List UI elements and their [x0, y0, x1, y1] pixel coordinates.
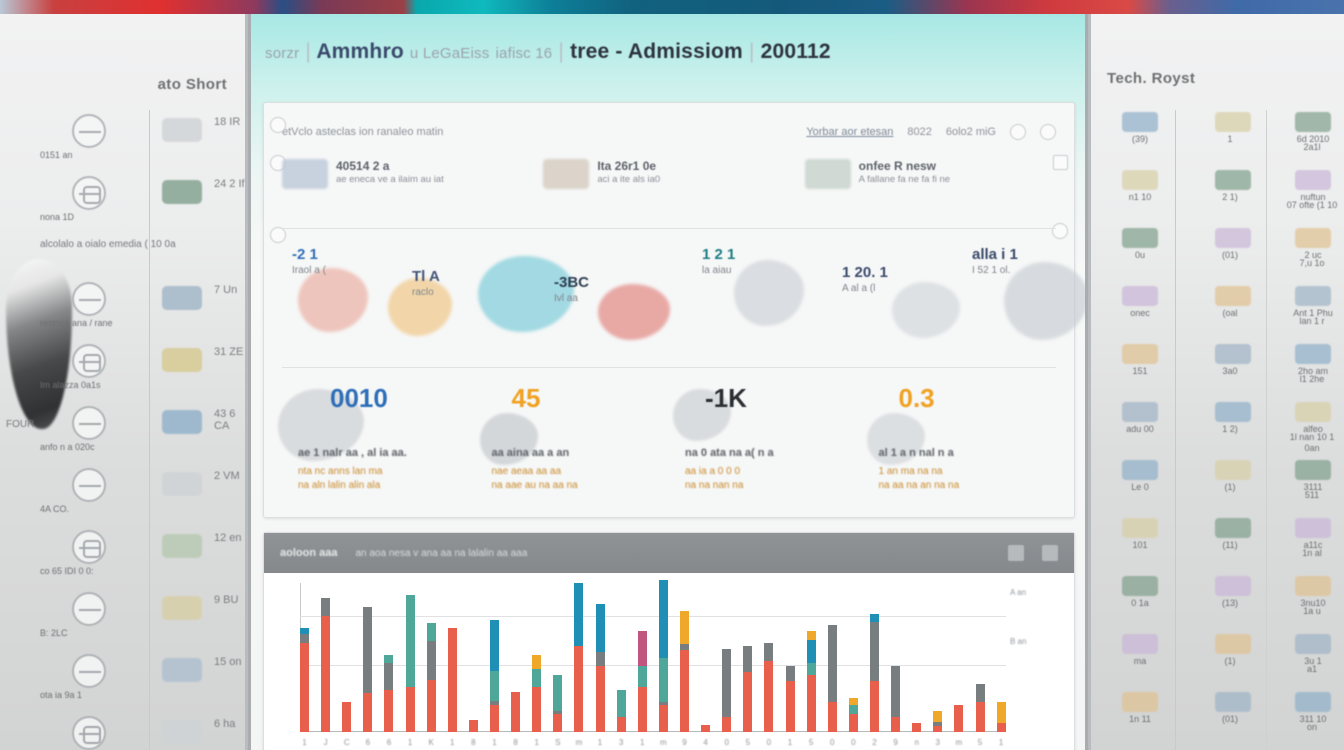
page-title-main: Ammhro	[316, 40, 404, 63]
left-sidebar-item-label: restoca ana / rane	[40, 318, 118, 329]
stat-card-subtitle-2: na na nan na	[685, 479, 860, 493]
chart-x-label: 9	[891, 738, 900, 747]
right-sidebar-cell[interactable]: 0u	[1103, 228, 1177, 261]
bag-icon[interactable]	[72, 344, 106, 378]
chart-x-label: 2	[870, 738, 879, 747]
chart-bar[interactable]	[933, 711, 942, 732]
page-title-frag: iafisc 16	[496, 45, 553, 62]
card-toolbar: etVclo asteclas ion ranaleo matin Yorbar…	[282, 115, 1056, 149]
chart-plot-area: 1JC661K18181Sm131m94050150029n3m51 A anB…	[274, 577, 1064, 750]
right-sidebar-badge-icon	[1295, 692, 1331, 712]
page-title: sorzr | Ammhro u LeGaEiss iafisc 16 | tr…	[265, 40, 1074, 64]
chart-bar-segment	[574, 646, 583, 732]
left-sidebar-badge[interactable]	[162, 410, 202, 434]
chart-x-label: 6	[363, 738, 372, 747]
right-sidebar-cell[interactable]: 2ho am	[1281, 344, 1344, 377]
page-title-mid: u LeGaEiss	[410, 45, 490, 62]
chart-bar-segment	[384, 663, 393, 690]
menu-icon[interactable]	[1042, 545, 1058, 561]
stat-card[interactable]: -1Kna 0 ata na a( n aaa ia a 0 0 0na na …	[669, 379, 863, 505]
chart-bar-segment	[532, 669, 541, 687]
stat-card-subtitle-2: na aae au na aa na	[492, 479, 667, 493]
chart-bar[interactable]	[617, 690, 626, 732]
right-sidebar-badge-icon	[1122, 344, 1158, 364]
metric-chip[interactable]: 1 2 1la aiau	[702, 246, 735, 277]
chart-bar-segment	[638, 631, 647, 667]
chart-x-label: 8	[511, 738, 520, 747]
toolbar-count: 8022	[907, 126, 931, 138]
filter-item[interactable]: 40514 2 aae eneca ve a ilaim au iat	[282, 153, 533, 189]
right-sidebar-cell[interactable]: 311 10	[1281, 692, 1344, 725]
right-sidebar-cell[interactable]: 3u 1	[1281, 634, 1344, 667]
chart-x-label: 5	[743, 738, 752, 747]
chart-inner	[300, 583, 1006, 732]
decorative-blob	[892, 282, 960, 338]
chart-bar-segment	[532, 655, 541, 670]
right-sidebar-row-tag: 7,u 1o	[1281, 258, 1343, 269]
chart-x-label: 1	[997, 738, 1006, 747]
right-sidebar-cell[interactable]: ma	[1103, 634, 1177, 667]
chart-bars	[300, 583, 1006, 732]
right-sidebar-cell[interactable]: alfeo	[1281, 402, 1344, 435]
right-sidebar-cell-label: 0 1a	[1103, 598, 1177, 609]
right-sidebar-row-tag: 2a1l	[1281, 142, 1343, 153]
right-sidebar-cell[interactable]: n1 10	[1103, 170, 1177, 203]
right-sidebar-badge-icon	[1122, 460, 1158, 480]
right-sidebar-badge-icon	[1122, 170, 1158, 190]
left-sidebar-item-label: co 65 IDI 0 0:	[40, 566, 118, 577]
right-sidebar-badge-icon	[1215, 634, 1251, 654]
chart-bar[interactable]	[807, 631, 816, 732]
right-sidebar-badge-icon	[1295, 518, 1331, 538]
right-sidebar-badge-icon	[1122, 228, 1158, 248]
grid-icon[interactable]	[72, 716, 106, 750]
right-sidebar-badge-icon	[1215, 402, 1251, 422]
chart-bar-segment	[933, 711, 942, 721]
right-sidebar-badge-icon	[1295, 286, 1331, 306]
page-title-id: 200112	[761, 40, 831, 63]
left-sidebar-badge[interactable]	[162, 534, 202, 558]
chart-bar[interactable]	[469, 720, 478, 732]
right-sidebar-cell[interactable]: 1n 11	[1103, 692, 1177, 725]
chart-x-label: m	[574, 738, 583, 747]
chart-bar-segment	[574, 583, 583, 646]
panel-dot-top-left[interactable]	[270, 117, 286, 133]
chart-bar-segment	[363, 607, 372, 693]
chart-bar-segment	[321, 616, 330, 732]
chart-bar-segment	[617, 690, 626, 717]
top-accent-strip	[0, 0, 1344, 14]
right-sidebar-cell-label: 3a0	[1191, 366, 1269, 377]
chart-bar-segment	[701, 725, 710, 732]
chart-bar[interactable]	[764, 643, 773, 732]
left-sidebar-item-label: anfo n a 020c	[40, 442, 118, 453]
chart-x-label: 4	[701, 738, 710, 747]
right-sidebar-cell[interactable]: (1)	[1191, 634, 1275, 667]
chart-bar[interactable]	[300, 628, 309, 732]
right-sidebar-cell-label: 101	[1103, 540, 1177, 551]
chart-x-label: 8	[469, 738, 478, 747]
chart-bar-segment	[427, 623, 436, 641]
chart-x-tick-labels: 1JC661K18181Sm131m94050150029n3m51	[300, 738, 1006, 750]
smile-icon[interactable]	[72, 592, 106, 626]
decorative-blob	[734, 260, 804, 326]
chart-x-label: J	[321, 738, 330, 747]
left-sidebar-title: ato Short	[158, 76, 227, 93]
warning-icon[interactable]	[72, 468, 106, 502]
chart-bar-segment	[511, 692, 520, 732]
right-sidebar-cell-label: adu 00	[1103, 424, 1177, 435]
left-sidebar-note: alcolalo a oialo emedia ( 10 0a	[40, 238, 176, 251]
right-sidebar-cell-label: (13)	[1191, 598, 1269, 609]
chart-bar-segment	[891, 666, 900, 717]
settings-icon[interactable]	[1040, 124, 1056, 140]
right-sidebar-badge-icon	[1295, 402, 1331, 422]
filter-thumbnail	[543, 159, 589, 189]
left-sidebar-item-label: 0151 an	[40, 150, 118, 161]
left-sidebar-value: 18 IR	[214, 116, 240, 128]
toolbar-right-text: 6olo2 miG	[946, 126, 996, 138]
right-sidebar-badge-icon	[1122, 402, 1158, 422]
toolbar-link[interactable]: Yorbar aor etesan	[806, 126, 893, 138]
person-icon[interactable]	[72, 176, 106, 210]
chart-bar-segment	[954, 705, 963, 732]
chart-bar-segment	[532, 687, 541, 732]
metric-chip-label: la aiau	[702, 264, 735, 277]
stat-card[interactable]: 0.3al 1 a n nal n a1 an ma na nana aa na…	[863, 379, 1057, 505]
filter-sublabel: ae eneca ve a ilaim au iat	[336, 174, 444, 186]
left-sidebar-badge[interactable]	[162, 348, 202, 372]
metric-chip-label: A al a (l	[842, 282, 888, 295]
right-sidebar-cell-label: (01)	[1191, 714, 1269, 725]
right-sidebar-badge-icon	[1295, 228, 1331, 248]
stat-card[interactable]: 0010ae 1 nalr aa , al ia aa.nta nc anns …	[282, 379, 476, 505]
right-sidebar-cell[interactable]: 3nu10	[1281, 576, 1344, 609]
chart-bar-segment	[469, 720, 478, 732]
chart-bar-segment	[807, 631, 816, 640]
right-sidebar-cell[interactable]: 6d 2010	[1281, 112, 1344, 145]
chart-x-label: 1	[786, 738, 795, 747]
chart-bar-segment	[321, 598, 330, 616]
left-sidebar-value: 9 BU	[214, 594, 238, 606]
chart-bar-segment	[764, 661, 773, 733]
chart-bar-segment	[384, 655, 393, 664]
left-sidebar-columns	[0, 110, 245, 750]
chart-x-label: 0	[849, 738, 858, 747]
chart-x-label: 6	[384, 738, 393, 747]
metric-chip-label: I 52 1 ol.	[972, 264, 1018, 277]
right-sidebar-cell[interactable]: (01)	[1191, 228, 1275, 261]
right-sidebar-cell[interactable]: 0 1a	[1103, 576, 1177, 609]
right-sidebar-row-tag: 1n al	[1281, 548, 1343, 559]
filter-label: 40514 2 a	[336, 159, 444, 174]
dashboard-card: etVclo asteclas ion ranaleo matin Yorbar…	[263, 102, 1075, 518]
right-sidebar-badge-icon	[1295, 170, 1331, 190]
right-sidebar-cell-label: n1 10	[1103, 192, 1177, 203]
stat-card-value: 0.3	[899, 383, 935, 413]
decorative-blob	[598, 284, 670, 340]
stat-card[interactable]: 45aa aina aa a annae aeaa aa aana aae au…	[476, 379, 670, 505]
chart-bar-segment	[363, 693, 372, 732]
chart-bar[interactable]	[427, 623, 436, 732]
chart-bar-segment	[912, 723, 921, 732]
right-sidebar-cell-label: 2 1)	[1191, 192, 1269, 203]
right-sidebar-cell[interactable]: (39)	[1103, 112, 1177, 145]
right-sidebar-cell[interactable]: 151	[1103, 344, 1177, 377]
chart-bar-segment	[807, 675, 816, 732]
right-sidebar-cell[interactable]: 3a0	[1191, 344, 1275, 377]
warning-icon[interactable]	[72, 406, 106, 440]
chart-bar[interactable]	[321, 598, 330, 732]
tree-icon[interactable]	[72, 530, 106, 564]
chart-bar[interactable]	[638, 631, 647, 732]
chart-bar-segment	[553, 675, 562, 711]
chart-bar-segment	[406, 687, 415, 732]
chart-legend-item[interactable]: A an	[1010, 587, 1062, 598]
chart-bar[interactable]	[786, 666, 795, 732]
chart-bar-segment	[764, 643, 773, 661]
chart-bar[interactable]	[976, 684, 985, 732]
right-sidebar-cell[interactable]: Ant 1 Phu	[1281, 286, 1344, 319]
left-sidebar: ato Short 18 IR0151 an24 2 Ifnona 1Dalco…	[0, 14, 248, 750]
right-sidebar-cell[interactable]: 3111	[1281, 460, 1344, 493]
right-sidebar-badge-icon	[1122, 692, 1158, 712]
decorative-blob	[298, 268, 368, 332]
chart-x-label: 3	[933, 738, 942, 747]
right-sidebar-badge-icon	[1295, 460, 1331, 480]
right-sidebar-row-tag: 07 ofte (1 10	[1281, 200, 1343, 211]
chart-bar-segment	[849, 705, 858, 714]
filter-sublabel: A fallane fa ne fa fi ne	[859, 174, 950, 186]
chart-bar-segment	[300, 643, 309, 732]
chart-legend-item[interactable]: B an	[1010, 636, 1062, 647]
chart-bar-segment	[976, 702, 985, 732]
filter-thumbnail	[282, 159, 328, 189]
right-sidebar-cell[interactable]: (1)	[1191, 460, 1275, 493]
chart-x-label: 1	[596, 738, 605, 747]
left-sidebar-item-label: B: 2LC	[40, 628, 118, 639]
right-sidebar-row-tag: a1	[1281, 664, 1343, 675]
chart-bar[interactable]	[448, 628, 457, 732]
right-sidebar-cell[interactable]: 2 uc	[1281, 228, 1344, 261]
metric-chip[interactable]: -2 1Iraol a (	[292, 246, 326, 277]
chart-bar-segment	[870, 614, 879, 621]
chart-x-label: m	[659, 738, 668, 747]
chart-bar[interactable]	[596, 604, 605, 732]
chart-bar[interactable]	[532, 655, 541, 732]
metric-chip[interactable]: 1 20. 1A al a (l	[842, 264, 888, 295]
metric-chip[interactable]: Tl Araclo	[412, 268, 440, 299]
chart-bar[interactable]	[574, 583, 583, 732]
metric-chip-value: Tl A	[412, 268, 440, 286]
chart-title: aoloon aaa	[280, 547, 337, 559]
chart-legend: A anB an	[1010, 587, 1062, 685]
bank-icon[interactable]	[72, 654, 106, 688]
chart-bar[interactable]	[553, 675, 562, 732]
metric-chip[interactable]: -3BCIvl aa	[554, 274, 589, 305]
chart-bar-segment	[722, 717, 731, 732]
chart-bar-segment	[617, 717, 626, 732]
filter-strip: 40514 2 aae eneca ve a ilaim au iatIta 2…	[282, 153, 1056, 229]
chart-bar[interactable]	[954, 705, 963, 732]
left-sidebar-badge[interactable]	[162, 720, 202, 744]
metric-chip[interactable]: alla i 1I 52 1 ol.	[972, 246, 1018, 277]
chart-bar-segment	[596, 652, 605, 667]
left-sidebar-item-label: nona 1D	[40, 212, 118, 223]
chart-x-label: m	[954, 738, 963, 747]
chart-x-label: 1	[638, 738, 647, 747]
filter-label: Ita 26r1 0e	[597, 159, 660, 174]
chart-bar-segment	[659, 658, 668, 703]
chart-bar[interactable]	[912, 723, 921, 732]
chart-bar-segment	[638, 687, 647, 732]
chart-bar[interactable]	[722, 649, 731, 732]
right-sidebar-badge-icon	[1295, 344, 1331, 364]
chart-bar-segment	[891, 717, 900, 732]
right-panel-divider	[1085, 14, 1088, 750]
metric-chip-value: 1 2 1	[702, 246, 735, 264]
chart-bar-segment	[490, 671, 499, 701]
chart-bar-segment	[448, 628, 457, 732]
chart-bar[interactable]	[363, 607, 372, 732]
filter-item[interactable]: onfee R neswA fallane fa ne fa fi ne	[805, 153, 1056, 189]
right-sidebar-badge-icon	[1215, 170, 1251, 190]
metric-chip-value: -3BC	[554, 274, 589, 292]
left-sidebar-badge[interactable]	[162, 286, 202, 310]
right-sidebar-cell-label: 151	[1103, 366, 1177, 377]
right-sidebar-badge-icon	[1122, 112, 1158, 132]
clock-icon[interactable]	[72, 114, 106, 148]
right-sidebar-cell[interactable]: (11)	[1191, 518, 1275, 551]
chart-bar-segment	[997, 723, 1006, 732]
chart-bar[interactable]	[384, 655, 393, 732]
right-sidebar-badge-icon	[1215, 692, 1251, 712]
filter-item[interactable]: Ita 26r1 0eaci a ite als ia0	[543, 153, 794, 189]
right-sidebar-cell-label: onec	[1103, 308, 1177, 319]
stat-card-value: 45	[512, 383, 541, 413]
chart-bar[interactable]	[490, 620, 499, 732]
chart-bar-segment	[553, 714, 562, 732]
right-sidebar-cell-label: (1)	[1191, 482, 1269, 493]
right-sidebar-badge-icon	[1215, 518, 1251, 538]
right-sidebar-cell[interactable]: 1	[1191, 112, 1275, 145]
chart-bar-segment	[638, 666, 647, 687]
right-sidebar-cell[interactable]: 101	[1103, 518, 1177, 551]
left-sidebar-badge[interactable]	[162, 118, 202, 142]
right-sidebar-cell-label: ma	[1103, 656, 1177, 667]
right-sidebar-cell[interactable]: onec	[1103, 286, 1177, 319]
left-sidebar-item-label: Im alazza 0a1s	[40, 380, 118, 391]
right-sidebar-badge-icon	[1122, 286, 1158, 306]
right-sidebar-cell-label: 1n 11	[1103, 714, 1177, 725]
left-sidebar-value: 15 on	[214, 656, 242, 668]
chart-bar[interactable]	[997, 702, 1006, 732]
chart-bar[interactable]	[511, 692, 520, 732]
right-sidebar-cell[interactable]: (01)	[1191, 692, 1275, 725]
left-sidebar-badge[interactable]	[162, 180, 202, 204]
left-sidebar-item-label: ota ia 9a 1	[40, 690, 118, 701]
right-sidebar-cell[interactable]: (oal	[1191, 286, 1275, 319]
chart-x-label: 0	[828, 738, 837, 747]
chart-bar-segment	[300, 634, 309, 643]
chart-bar-segment	[659, 705, 668, 732]
page-title-suffix: tree - Admissiom	[570, 40, 743, 63]
right-sidebar-row-tag: on	[1281, 722, 1343, 733]
right-sidebar-cell[interactable]: (13)	[1191, 576, 1275, 609]
left-sidebar-footer-note: FOUR	[6, 418, 34, 431]
chart-bar[interactable]	[659, 580, 668, 732]
chart-bar[interactable]	[342, 702, 351, 732]
right-sidebar-badge-icon	[1295, 112, 1331, 132]
left-sidebar-badge[interactable]	[162, 658, 202, 682]
chart-x-label: 9	[680, 738, 689, 747]
chart-subtitle: an aoa nesa v ana aa na lalalin aa aaa	[355, 548, 527, 559]
right-sidebar-cell[interactable]: Le 0	[1103, 460, 1177, 493]
metric-chip-label: Ivl aa	[554, 292, 589, 305]
left-sidebar-value: 31 ZE	[214, 346, 243, 358]
chip-icon[interactable]	[72, 282, 106, 316]
help-icon[interactable]	[1010, 124, 1026, 140]
chart-bar-segment	[849, 714, 858, 732]
chart-bar[interactable]	[870, 614, 879, 732]
grid-view-icon[interactable]	[1008, 545, 1024, 561]
chart-x-label: 0	[764, 738, 773, 747]
chart-bar-segment	[406, 595, 415, 687]
chart-x-label: 1	[448, 738, 457, 747]
chart-bar-segment	[342, 702, 351, 732]
chart-bar[interactable]	[743, 646, 752, 732]
right-sidebar-cell[interactable]: nuftun	[1281, 170, 1344, 203]
stat-card-title: ae 1 nalr aa , al ia aa.	[298, 445, 473, 461]
chart-bar[interactable]	[701, 725, 710, 732]
chart-bar-segment	[828, 625, 837, 702]
chart-bar[interactable]	[891, 666, 900, 732]
right-sidebar-row-tag: l1 2he	[1281, 374, 1343, 385]
right-sidebar-cell[interactable]: adu 00	[1103, 402, 1177, 435]
right-sidebar-badge-icon	[1215, 460, 1251, 480]
chart-bar[interactable]	[406, 595, 415, 732]
chart-bar[interactable]	[680, 611, 689, 732]
left-sidebar-badge[interactable]	[162, 472, 202, 496]
chart-bar[interactable]	[849, 698, 858, 732]
filter-thumbnail	[805, 159, 851, 189]
chart-bar-segment	[933, 726, 942, 732]
chart-bar-segment	[870, 622, 879, 682]
chart-x-label: n	[912, 738, 921, 747]
filter-sublabel: aci a ite als ia0	[597, 174, 660, 186]
metric-chip-value: -2 1	[292, 246, 326, 264]
right-sidebar-row-tag: lan 1 r	[1281, 316, 1343, 327]
right-sidebar-badge-icon	[1122, 518, 1158, 538]
right-sidebar-badge-icon	[1215, 286, 1251, 306]
chart-x-label: 1	[300, 738, 309, 747]
stat-card-value: 0010	[330, 383, 388, 413]
chart-x-label: S	[553, 738, 562, 747]
right-sidebar-cell[interactable]: 2 1)	[1191, 170, 1275, 203]
right-sidebar-cell-label: (11)	[1191, 540, 1269, 551]
right-sidebar-row-tag: 1a u	[1281, 606, 1343, 617]
left-sidebar-badge[interactable]	[162, 596, 202, 620]
right-sidebar-cell[interactable]: 1 2)	[1191, 402, 1275, 435]
metric-chip-label: raclo	[412, 286, 440, 299]
right-sidebar-cell[interactable]: a11c	[1281, 518, 1344, 551]
chart-bar-segment	[743, 672, 752, 732]
right-sidebar-cell-label: 1 2)	[1191, 424, 1269, 435]
chart-bar-segment	[828, 702, 837, 732]
chart-bar[interactable]	[828, 625, 837, 732]
stat-card-title: na 0 ata na a( n a	[685, 445, 860, 461]
chart-bar-segment	[680, 650, 689, 732]
